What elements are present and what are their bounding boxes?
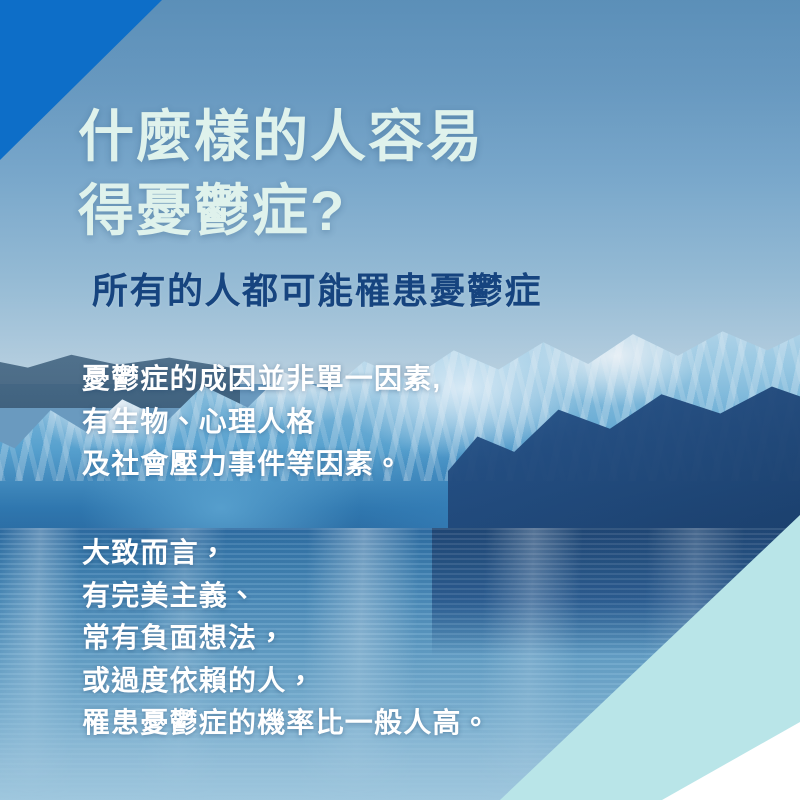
paragraph-risk-profile-line-5: 罹患憂鬱症的機率比一般人高。 — [82, 702, 491, 745]
paragraph-causes-line-1: 憂鬱症的成因並非單一因素, — [82, 358, 441, 401]
paragraph-causes: 憂鬱症的成因並非單一因素, 有生物、心理人格 及社會壓力事件等因素。 — [82, 358, 441, 486]
paragraph-risk-profile-line-2: 有完美主義、 — [82, 575, 491, 618]
page-subtitle: 所有的人都可能罹患憂鬱症 — [92, 262, 542, 314]
poster-content: 什麼樣的人容易 得憂鬱症? 所有的人都可能罹患憂鬱症 憂鬱症的成因並非單一因素,… — [0, 0, 800, 800]
paragraph-causes-line-3: 及社會壓力事件等因素。 — [82, 443, 441, 486]
paragraph-risk-profile-line-4: 或過度依賴的人， — [82, 660, 491, 703]
page-title-line-1: 什麼樣的人容易 — [78, 100, 484, 174]
page-title: 什麼樣的人容易 得憂鬱症? — [78, 100, 484, 248]
poster-card: 什麼樣的人容易 得憂鬱症? 所有的人都可能罹患憂鬱症 憂鬱症的成因並非單一因素,… — [0, 0, 800, 800]
paragraph-risk-profile-line-1: 大致而言， — [82, 532, 491, 575]
page-title-line-2: 得憂鬱症? — [78, 174, 484, 248]
paragraph-causes-line-2: 有生物、心理人格 — [82, 401, 441, 444]
paragraph-risk-profile-line-3: 常有負面想法， — [82, 617, 491, 660]
paragraph-risk-profile: 大致而言， 有完美主義、 常有負面想法， 或過度依賴的人， 罹患憂鬱症的機率比一… — [82, 532, 491, 745]
